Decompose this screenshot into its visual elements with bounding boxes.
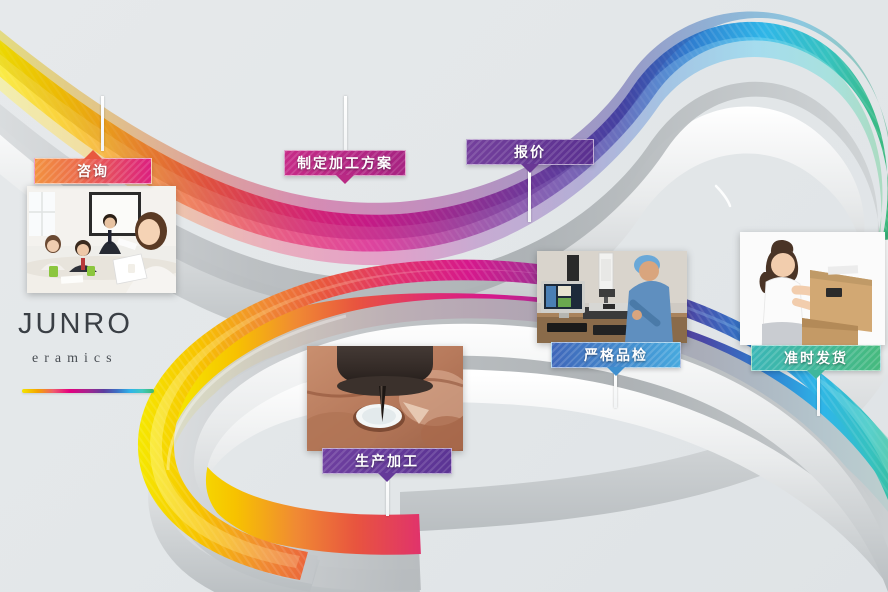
photo-inspection [537, 251, 687, 343]
brand-logo: JUNRO eramics [18, 310, 188, 393]
ribbon-lower-gray [175, 349, 888, 574]
inspection-scene [537, 251, 687, 343]
machining-scene [307, 346, 463, 451]
step-label-plan[interactable]: 制定加工方案 [284, 150, 406, 176]
stalk-consult [101, 96, 104, 151]
step-label-inspection[interactable]: 严格品检 [551, 342, 681, 368]
step-label-production-text: 生产加工 [355, 451, 419, 471]
step-label-consult-text: 咨询 [77, 161, 109, 181]
process-flow-infographic: JUNRO eramics [0, 0, 888, 592]
step-label-quote-text: 报价 [514, 142, 546, 162]
sparkle-icon-1 [716, 186, 730, 206]
brand-name: JUNRO [18, 310, 188, 339]
brand-gradient-rule [22, 389, 154, 393]
step-label-quote[interactable]: 报价 [466, 139, 594, 165]
ribbon-lower-underside [175, 375, 888, 592]
brand-subtitle: eramics [32, 351, 188, 367]
step-label-shipping-text: 准时发货 [784, 348, 848, 368]
step-label-plan-text: 制定加工方案 [297, 153, 393, 173]
photo-consult [27, 186, 176, 293]
step-label-shipping[interactable]: 准时发货 [751, 345, 881, 371]
step-label-consult[interactable]: 咨询 [34, 158, 152, 184]
photo-shipping [740, 232, 885, 345]
meeting-scene [27, 186, 176, 293]
stalk-plan [344, 96, 347, 151]
step-label-production[interactable]: 生产加工 [322, 448, 452, 474]
shipping-scene [740, 232, 885, 345]
step-label-inspection-text: 严格品检 [584, 345, 648, 365]
stalk-quote [528, 165, 531, 222]
photo-production [307, 346, 463, 451]
